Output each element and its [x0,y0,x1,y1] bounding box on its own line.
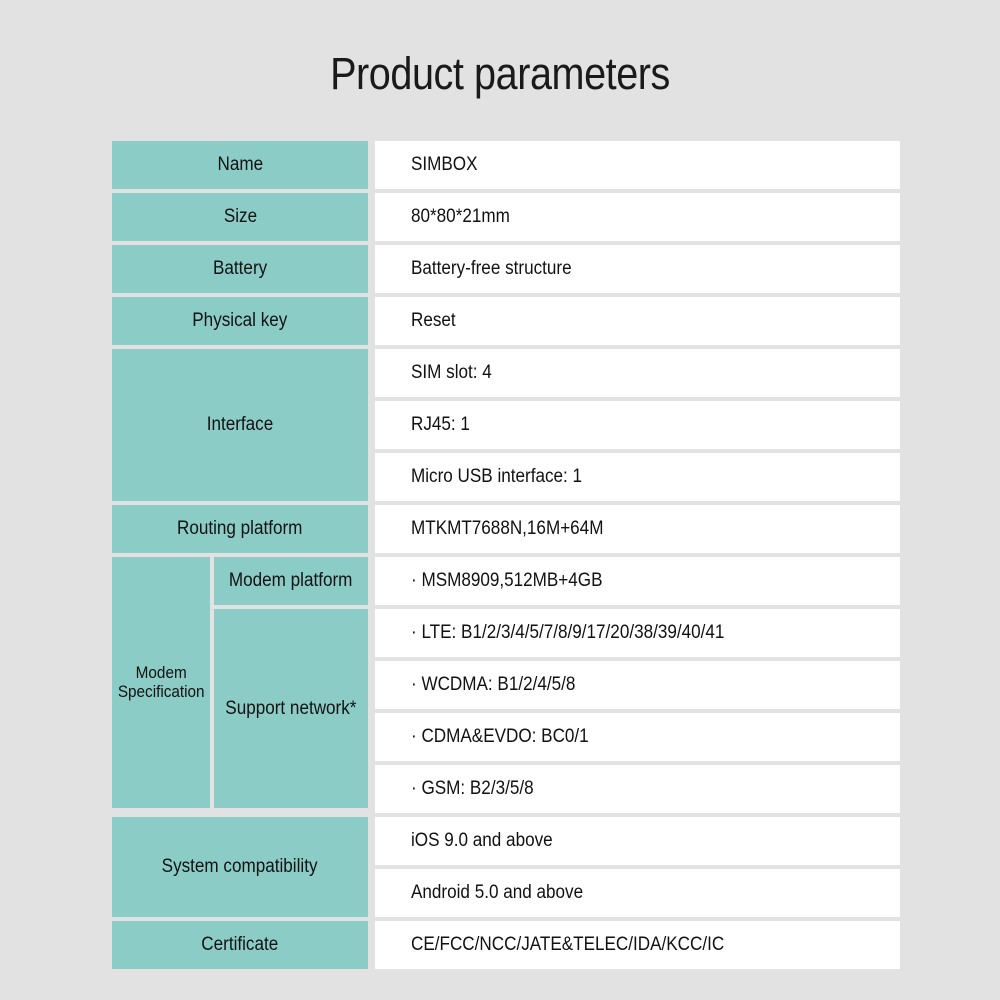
value-text: · LTE: B1/2/3/4/5/7/8/9/17/20/38/39/40/4… [411,622,724,644]
value-text: RJ45: 1 [411,414,470,436]
row-value-certificate: CE/FCC/NCC/JATE&TELEC/IDA/KCC/IC [375,921,900,969]
label-text-modem-specification: ModemSpecification [118,664,205,701]
row-value-ios-version: iOS 9.0 and above [375,817,900,865]
row-value-interface-sim-slot: SIM slot: 4 [375,349,900,397]
label-text: Physical key [192,310,287,331]
value-text: Android 5.0 and above [411,882,583,904]
modem-value-stack: · MSM8909,512MB+4GB · LTE: B1/2/3/4/5/7/… [375,557,900,813]
row-value-android-version: Android 5.0 and above [375,869,900,917]
label-line-1: Modem [135,663,186,682]
row-label-physical-key: Physical key [112,297,368,345]
row-value-physical-key: Reset [375,297,900,345]
value-text: Battery-free structure [411,258,572,280]
value-text: SIM slot: 4 [411,362,492,384]
label-text: System compatibility [162,856,318,877]
value-text: 80*80*21mm [411,206,510,228]
table-row: Size 80*80*21mm [112,193,900,241]
system-compatibility-value-stack: iOS 9.0 and above Android 5.0 and above [375,817,900,917]
row-label-battery: Battery [112,245,368,293]
table-row: Routing platform MTKMT7688N,16M+64M [112,505,900,553]
table-row-group-system-compatibility: System compatibility iOS 9.0 and above A… [112,817,900,917]
label-text: Certificate [202,934,279,955]
row-value-size: 80*80*21mm [375,193,900,241]
row-label-name: Name [112,141,368,189]
page-title: Product parameters [60,48,940,100]
row-value-network-gsm: · GSM: B2/3/5/8 [375,765,900,813]
table-row: Certificate CE/FCC/NCC/JATE&TELEC/IDA/KC… [112,921,900,969]
row-value-network-lte: · LTE: B1/2/3/4/5/7/8/9/17/20/38/39/40/4… [375,609,900,657]
value-text: Reset [411,310,456,332]
label-text: Modem platform [229,570,353,592]
table-row-group-modem-specification: ModemSpecification Modem platform Suppor… [112,557,900,813]
label-text: Routing platform [177,518,302,539]
value-text: MTKMT7688N,16M+64M [411,518,603,540]
row-value-routing-platform: MTKMT7688N,16M+64M [375,505,900,553]
row-label-system-compatibility: System compatibility [112,817,368,917]
modem-sublabel-column: Modem platform Support network* [214,557,368,813]
row-value-modem-platform: · MSM8909,512MB+4GB [375,557,900,605]
value-text: iOS 9.0 and above [411,830,553,852]
table-row: Physical key Reset [112,297,900,345]
label-text: Battery [213,258,267,279]
value-text: · WCDMA: B1/2/4/5/8 [411,674,575,696]
table-row: Battery Battery-free structure [112,245,900,293]
label-line-2: Specification [118,682,205,701]
interface-value-stack: SIM slot: 4 RJ45: 1 Micro USB interface:… [375,349,900,501]
row-value-interface-rj45: RJ45: 1 [375,401,900,449]
spec-table: Name SIMBOX Size 80*80*21mm Battery Batt… [112,141,900,973]
row-label-certificate: Certificate [112,921,368,969]
row-label-support-network: Support network* [214,609,368,808]
row-label-interface: Interface [112,349,368,501]
value-text: · CDMA&EVDO: BC0/1 [411,726,589,748]
row-label-modem-platform: Modem platform [214,557,368,605]
value-text: CE/FCC/NCC/JATE&TELEC/IDA/KCC/IC [411,934,724,956]
product-parameters-page: Product parameters Name SIMBOX Size 80*8… [0,0,1000,1000]
row-value-network-wcdma: · WCDMA: B1/2/4/5/8 [375,661,900,709]
value-text: SIMBOX [411,154,478,176]
row-value-battery: Battery-free structure [375,245,900,293]
label-text: Support network* [225,698,356,720]
table-row-group-interface: Interface SIM slot: 4 RJ45: 1 Micro USB … [112,349,900,501]
label-text: Interface [207,414,274,435]
row-label-modem-specification: ModemSpecification [112,557,210,808]
table-row: Name SIMBOX [112,141,900,189]
row-label-size: Size [112,193,368,241]
row-label-routing-platform: Routing platform [112,505,368,553]
value-text: · MSM8909,512MB+4GB [411,570,603,592]
row-value-name: SIMBOX [375,141,900,189]
row-value-network-cdma-evdo: · CDMA&EVDO: BC0/1 [375,713,900,761]
label-text: Name [217,154,263,175]
value-text: · GSM: B2/3/5/8 [411,778,534,800]
value-text: Micro USB interface: 1 [411,466,582,488]
label-text: Size [223,206,256,227]
row-value-interface-micro-usb: Micro USB interface: 1 [375,453,900,501]
